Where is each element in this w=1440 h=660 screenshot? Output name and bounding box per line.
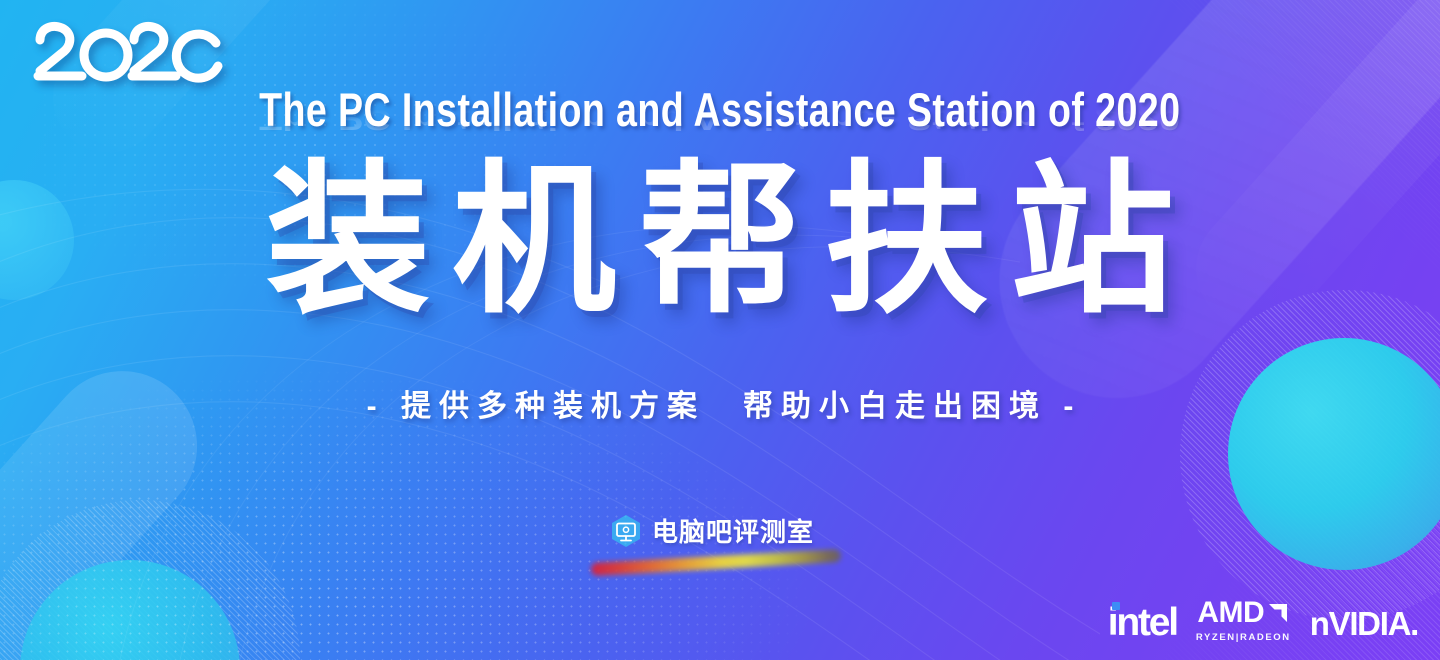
- tagline: - 提供多种装机方案 帮助小白走出困境 -: [0, 381, 1440, 425]
- decor-hatched-halo-right: [1180, 290, 1440, 620]
- brand-logo-row: intel AMD RYZEN|RADEON nVIDIA.: [1108, 598, 1418, 643]
- monitor-hexagon-icon: [609, 514, 643, 548]
- brand-nvidia: nVIDIA.: [1310, 607, 1418, 642]
- main-headline: 装机帮扶站: [0, 152, 1440, 329]
- brand-intel: intel: [1108, 599, 1177, 642]
- decor-cyan-circle-right: [1228, 338, 1440, 570]
- amd-label: AMD: [1197, 598, 1264, 628]
- decor-cyan-circle-bottom-left: [20, 560, 240, 660]
- amd-arrow-icon: [1267, 602, 1289, 624]
- decor-hatched-halo-bottom-left: [0, 500, 300, 660]
- english-title-reflection: The PC Installation and Assistance Stati…: [259, 106, 1180, 135]
- intel-dot-icon: [1112, 602, 1120, 610]
- watermark-label: 电脑吧评测室: [652, 512, 814, 549]
- watermark: 电脑吧评测室: [585, 512, 855, 578]
- brand-amd: AMD RYZEN|RADEON: [1196, 598, 1291, 643]
- watermark-streak: [591, 549, 841, 576]
- amd-subtitle: RYZEN|RADEON: [1196, 633, 1291, 643]
- nvidia-label: nVIDIA.: [1310, 607, 1418, 642]
- promo-banner: The PC Installation and Assistance Stati…: [0, 0, 1440, 660]
- logo-2020: [30, 18, 230, 96]
